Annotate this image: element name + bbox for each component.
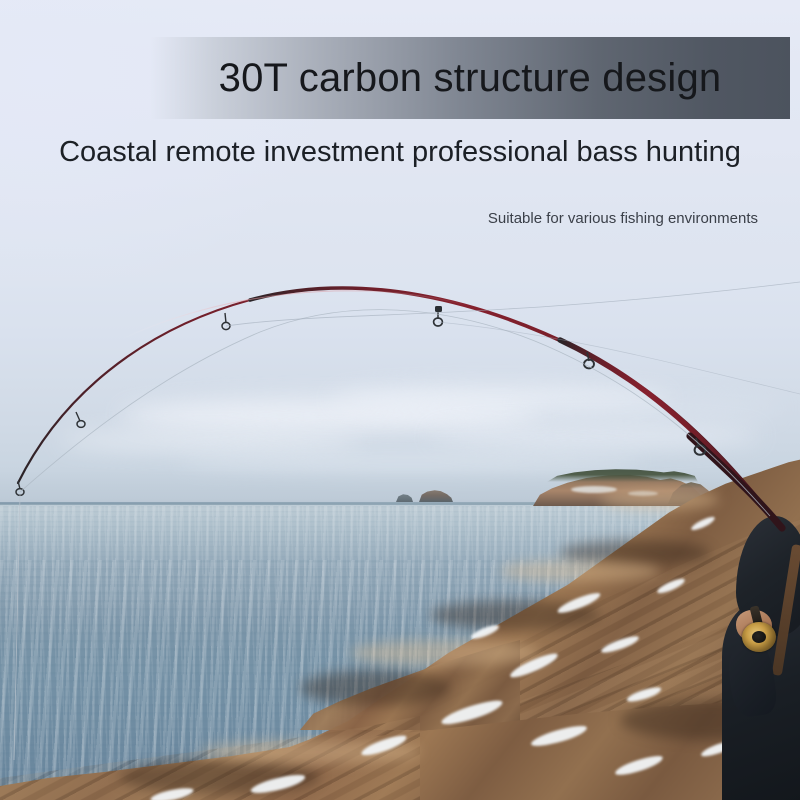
scene-photo bbox=[0, 0, 800, 800]
product-banner-image: 30T carbon structure design Coastal remo… bbox=[0, 0, 800, 800]
cloud-band bbox=[430, 424, 760, 448]
sea-ripples-near bbox=[0, 560, 800, 800]
cloud-band bbox=[60, 430, 360, 452]
fishing-reel bbox=[742, 622, 776, 652]
banner-title: 30T carbon structure design bbox=[150, 37, 790, 119]
angler bbox=[716, 516, 800, 800]
banner-subtitle: Coastal remote investment professional b… bbox=[0, 136, 800, 169]
cloud-band bbox=[520, 398, 780, 418]
banner-tagline: Suitable for various fishing environment… bbox=[0, 210, 800, 227]
